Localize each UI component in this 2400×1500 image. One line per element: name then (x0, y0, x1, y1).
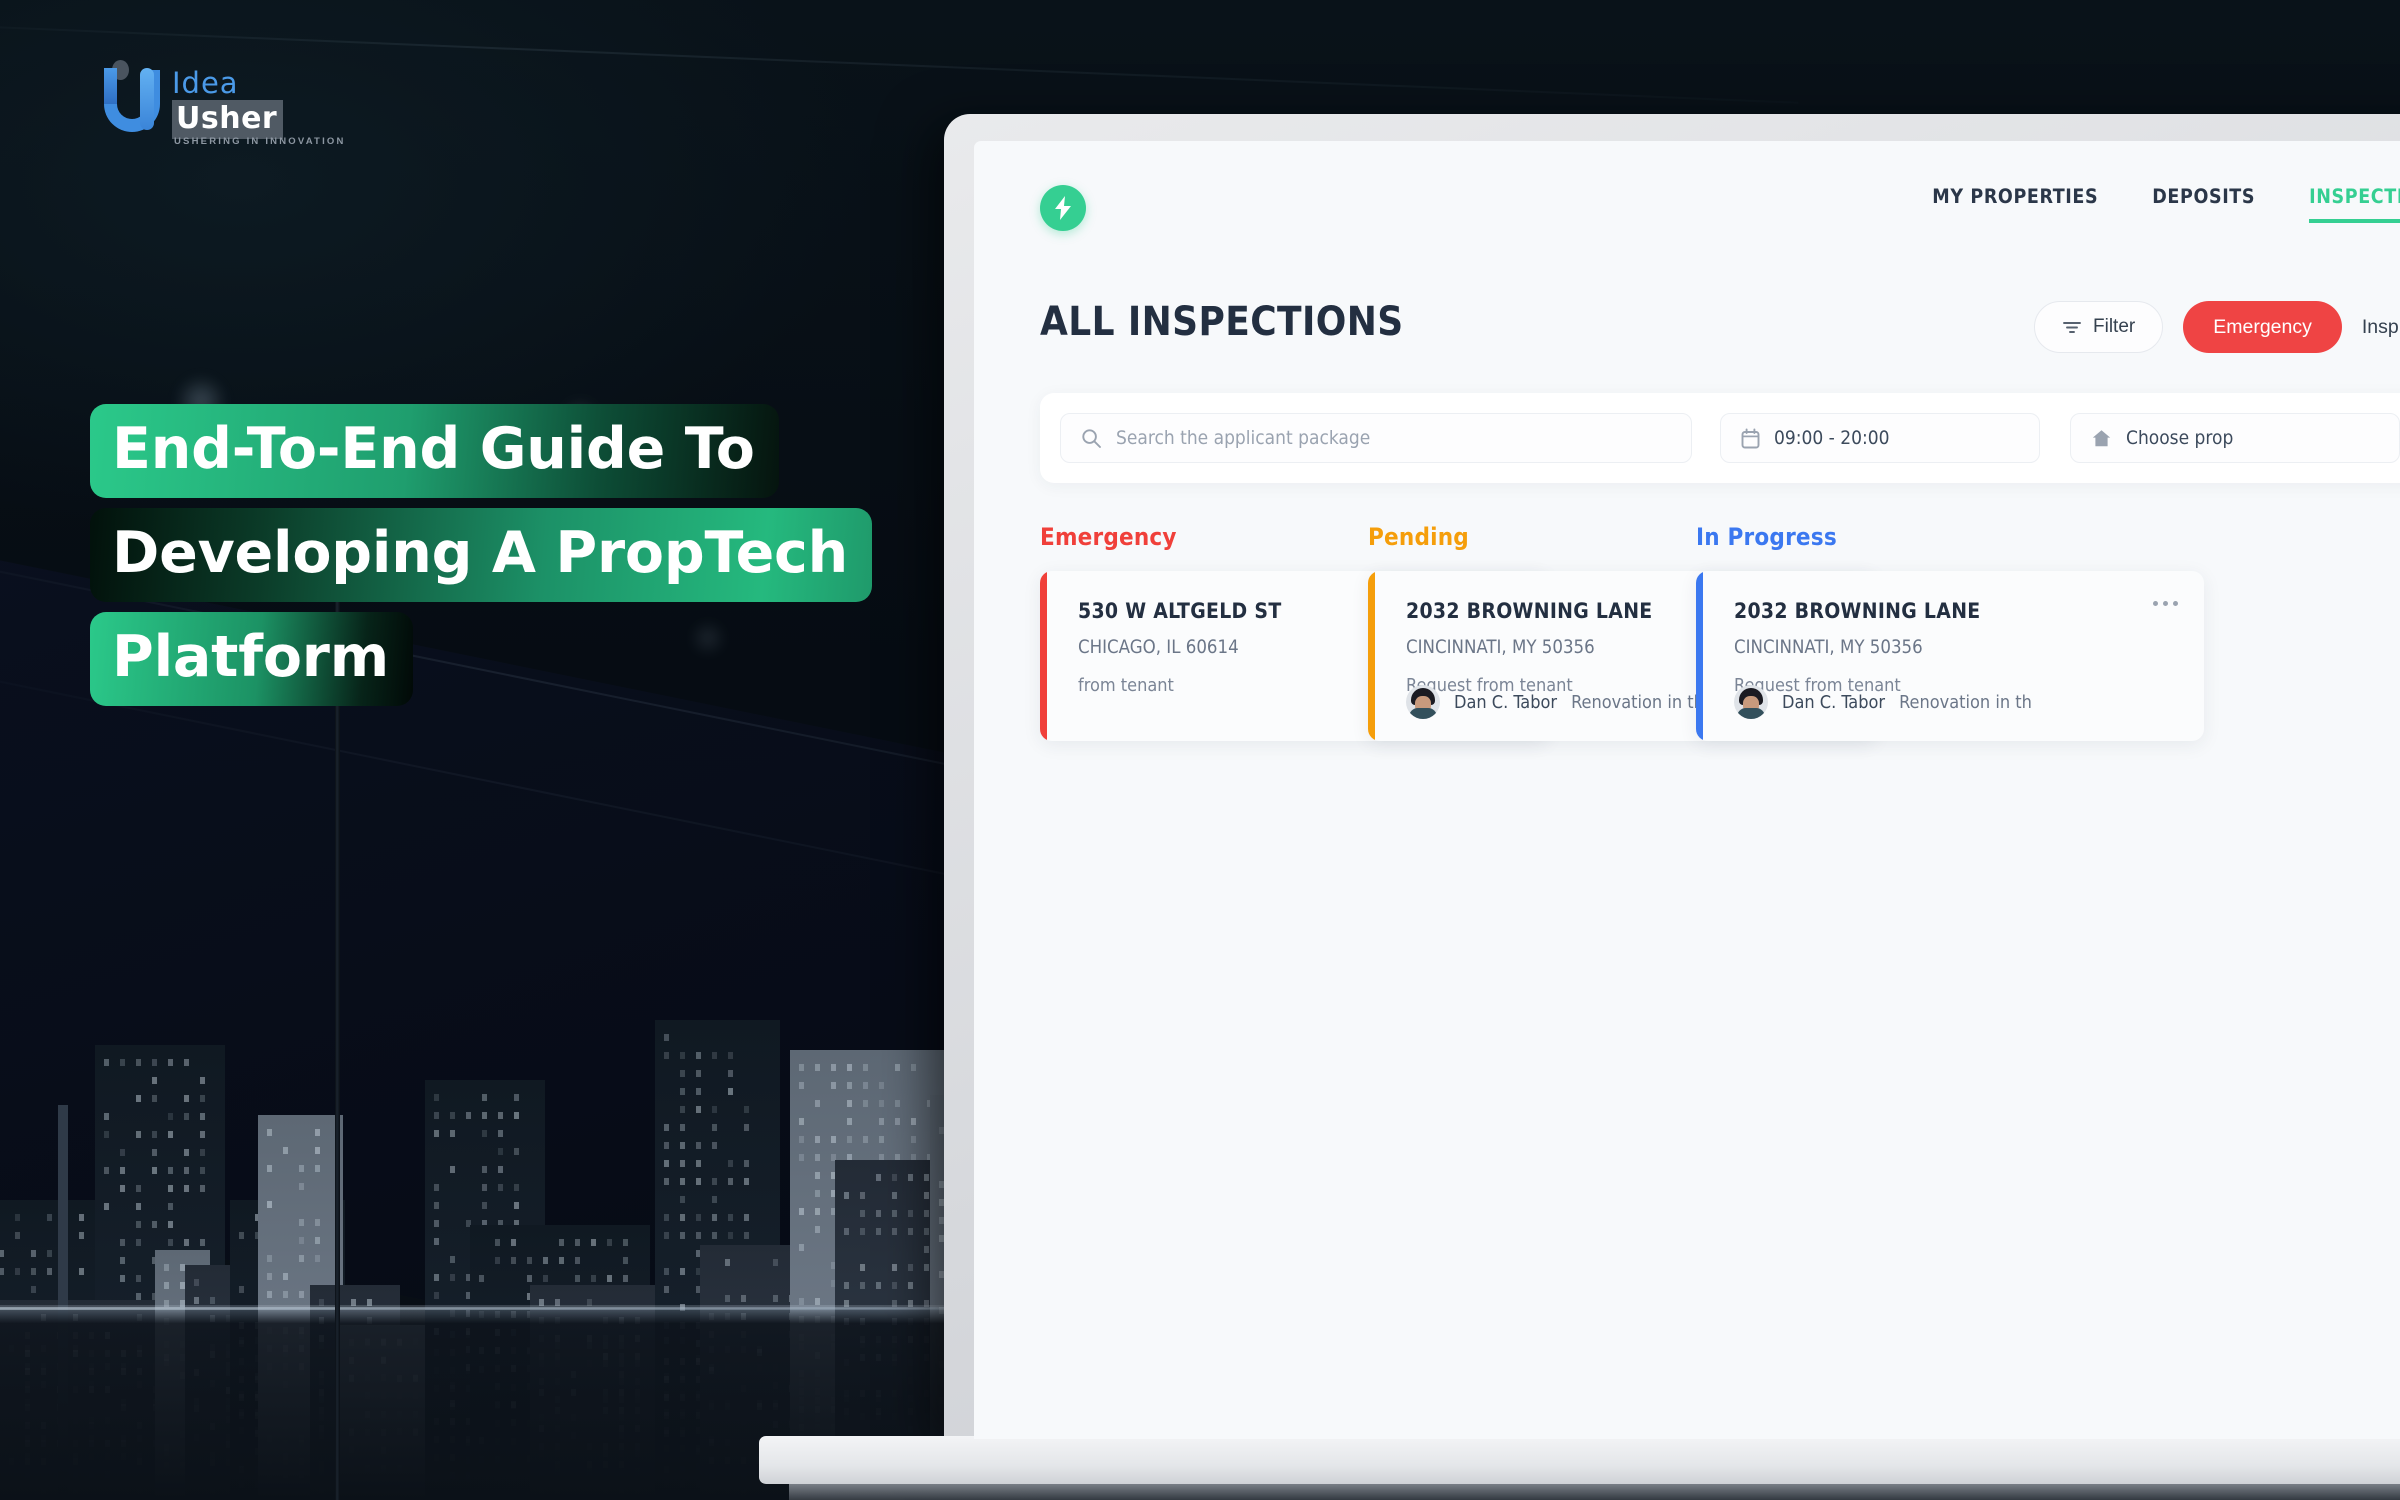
card-city-state: CINCINNATI, MY 50356 (1734, 637, 1923, 658)
building-window (267, 1129, 272, 1136)
building-window (136, 1131, 141, 1138)
card-address-title: 530 W ALTGELD ST (1078, 599, 1282, 623)
building-window (514, 1184, 519, 1191)
card-task-label: Renovation in th (1899, 692, 2032, 713)
building-window (591, 1239, 596, 1246)
building-window (152, 1149, 157, 1156)
building-window (482, 1166, 487, 1173)
building-window (847, 1064, 852, 1071)
building-window (168, 1113, 173, 1120)
building-window (879, 1082, 884, 1089)
building-window (696, 1178, 701, 1185)
building-window (664, 1124, 669, 1131)
building-window (434, 1220, 439, 1227)
emergency-filter-pill[interactable]: Emergency (2183, 301, 2342, 353)
building-window (200, 1131, 205, 1138)
search-placeholder: Search the applicant package (1116, 427, 1370, 449)
building-window (152, 1077, 157, 1084)
building-window (876, 1174, 881, 1181)
building-window (194, 1279, 199, 1286)
building-window (712, 1106, 717, 1113)
idea-usher-logo: Idea Usher USHERING IN INNOVATION (104, 62, 404, 142)
building-window (450, 1274, 455, 1281)
building-window (815, 1226, 820, 1233)
building-window (498, 1166, 503, 1173)
building-window (744, 1160, 749, 1167)
building-window (168, 1185, 173, 1192)
building-window (210, 1297, 215, 1304)
building-window (892, 1210, 897, 1217)
building-window (860, 1192, 865, 1199)
headline-line-1: End-To-End Guide To (90, 404, 779, 498)
building-window (200, 1113, 205, 1120)
building-window (498, 1148, 503, 1155)
building-window (607, 1239, 612, 1246)
building-window (860, 1282, 865, 1289)
building-window (815, 1100, 820, 1107)
building-window (924, 1246, 929, 1253)
search-input[interactable]: Search the applicant package (1060, 413, 1692, 463)
building-window (514, 1094, 519, 1101)
building-window (168, 1221, 173, 1228)
building-window (863, 1064, 868, 1071)
building-window (847, 1118, 852, 1125)
building-window (696, 1160, 701, 1167)
building-window (15, 1268, 20, 1275)
building-window (591, 1275, 596, 1282)
card-address-title: 2032 BROWNING LANE (1734, 599, 1981, 623)
building-window (799, 1298, 804, 1305)
building-window (450, 1166, 455, 1173)
building-window (892, 1192, 897, 1199)
building-window (892, 1228, 897, 1235)
building-window (844, 1282, 849, 1289)
building-window (680, 1268, 685, 1275)
building-window (860, 1210, 865, 1217)
building-window (773, 1259, 778, 1266)
building-window (607, 1275, 612, 1282)
building-window (876, 1228, 881, 1235)
building-window (744, 1214, 749, 1221)
building-window (815, 1298, 820, 1305)
building-window (879, 1136, 884, 1143)
building-window (15, 1214, 20, 1221)
building-window (527, 1257, 532, 1264)
card-request-source: from tenant (1078, 675, 1174, 696)
brand-logo-button[interactable] (1040, 185, 1086, 231)
building-window (315, 1147, 320, 1154)
building-window (911, 1136, 916, 1143)
building-window (712, 1052, 717, 1059)
building-window (664, 1232, 669, 1239)
building-window (696, 1232, 701, 1239)
building-window (434, 1274, 439, 1281)
filter-panel: Search the applicant package 09:00 - 20:… (1040, 393, 2400, 483)
search-icon (1081, 428, 1102, 449)
building-window (895, 1100, 900, 1107)
building-window (799, 1136, 804, 1143)
card-assignee-name: Dan C. Tabor (1454, 692, 1557, 713)
nav-item-inspections[interactable]: INSPECTIONS (2309, 185, 2400, 223)
building-window (152, 1167, 157, 1174)
building-window (908, 1264, 913, 1271)
building-window (136, 1293, 141, 1300)
building-window (495, 1239, 500, 1246)
building-window (136, 1059, 141, 1066)
building-window (120, 1167, 125, 1174)
building-window (267, 1201, 272, 1208)
app-header: MY PROPERTIES DEPOSITS INSPECTIONS (974, 141, 2400, 261)
building-window (184, 1095, 189, 1102)
building-window (696, 1070, 701, 1077)
building-window (696, 1106, 701, 1113)
building-window (450, 1130, 455, 1137)
building-window (623, 1275, 628, 1282)
time-range-value: 09:00 - 20:00 (1774, 427, 1890, 449)
building-window (299, 1255, 304, 1262)
building-window (664, 1214, 669, 1221)
building-window (200, 1185, 205, 1192)
building-window (120, 1059, 125, 1066)
building-window (466, 1112, 471, 1119)
building-window (511, 1239, 516, 1246)
building-window (744, 1106, 749, 1113)
building-window (815, 1154, 820, 1161)
building-window (168, 1167, 173, 1174)
building-window (908, 1228, 913, 1235)
building-window (31, 1286, 36, 1293)
building-window (799, 1208, 804, 1215)
building-window (434, 1202, 439, 1209)
building-window (773, 1295, 778, 1302)
building-window (728, 1232, 733, 1239)
building-window (498, 1112, 503, 1119)
building-window (680, 1106, 685, 1113)
building-window (47, 1214, 52, 1221)
logo-secondary-box: Usher (172, 100, 283, 139)
building-window (664, 1052, 669, 1059)
building-window (184, 1149, 189, 1156)
building-window (239, 1286, 244, 1293)
building-window (136, 1095, 141, 1102)
card-status-accent (1696, 571, 1703, 741)
building-window (120, 1257, 125, 1264)
building-window (924, 1264, 929, 1271)
page-title-row: ALL INSPECTIONS Filter Emergency Insp (974, 291, 2400, 369)
building-window (728, 1052, 733, 1059)
building-window (892, 1264, 897, 1271)
building-window (200, 1095, 205, 1102)
building-window (15, 1232, 20, 1239)
building-window (104, 1059, 109, 1066)
card-status-accent (1368, 571, 1375, 741)
building-window (152, 1131, 157, 1138)
building-window (680, 1178, 685, 1185)
building-window (712, 1214, 717, 1221)
building-window (299, 1219, 304, 1226)
inspection-card[interactable]: 2032 BROWNING LANE CINCINNATI, MY 50356 … (1696, 571, 2204, 741)
building-window (680, 1052, 685, 1059)
building-window (696, 1088, 701, 1095)
building-window (0, 1268, 4, 1275)
building-window (911, 1064, 916, 1071)
building-window (712, 1232, 717, 1239)
building-window (725, 1295, 730, 1302)
building-window (924, 1174, 929, 1181)
building-window (482, 1202, 487, 1209)
avatar (1406, 685, 1440, 719)
building-window (79, 1232, 84, 1239)
building-window (559, 1257, 564, 1264)
building-window (434, 1094, 439, 1101)
filter-button[interactable]: Filter (2034, 301, 2163, 353)
building-window (315, 1219, 320, 1226)
card-city-state: CHICAGO, IL 60614 (1078, 637, 1239, 658)
building-window (575, 1257, 580, 1264)
building-window (315, 1237, 320, 1244)
building-window (799, 1244, 804, 1251)
building-window (696, 1052, 701, 1059)
building-window (863, 1082, 868, 1089)
building-window (514, 1148, 519, 1155)
building-window (847, 1136, 852, 1143)
building-window (575, 1239, 580, 1246)
building-window (200, 1077, 205, 1084)
building-window (511, 1257, 516, 1264)
laptop-base (759, 1436, 2400, 1484)
building-window (136, 1275, 141, 1282)
building-window (892, 1282, 897, 1289)
building-window (815, 1064, 820, 1071)
building-window (895, 1064, 900, 1071)
building-window (680, 1232, 685, 1239)
building-window (283, 1147, 288, 1154)
building-window (104, 1167, 109, 1174)
column-header-emergency: Emergency (1040, 523, 1177, 551)
window-sill (0, 1305, 1040, 1309)
filter-icon (2062, 319, 2082, 335)
headline-line-3: Platform (90, 612, 413, 706)
building-window (79, 1268, 84, 1275)
card-assignee-name: Dan C. Tabor (1782, 692, 1885, 713)
building-window (164, 1264, 169, 1271)
building-window (315, 1165, 320, 1172)
building-window (575, 1275, 580, 1282)
building-window (299, 1183, 304, 1190)
building-window (482, 1094, 487, 1101)
building-window (168, 1059, 173, 1066)
building-window (299, 1291, 304, 1298)
building-window (136, 1221, 141, 1228)
building-window (895, 1118, 900, 1125)
building-window (168, 1131, 173, 1138)
building-window (495, 1257, 500, 1264)
nav-item-my-properties[interactable]: MY PROPERTIES (1932, 185, 2098, 219)
building-window (664, 1142, 669, 1149)
building-window (267, 1255, 272, 1262)
building-window (104, 1203, 109, 1210)
building-window (879, 1100, 884, 1107)
logo-tagline: USHERING IN INNOVATION (174, 136, 346, 147)
building-window (911, 1118, 916, 1125)
building-window (728, 1160, 733, 1167)
building-window (815, 1172, 820, 1179)
building-window (184, 1059, 189, 1066)
column-header-pending: Pending (1368, 523, 1469, 551)
building-window (664, 1286, 669, 1293)
building-window (559, 1239, 564, 1246)
column-header-in-progress: In Progress (1696, 523, 1837, 551)
building-window (543, 1257, 548, 1264)
building-window (815, 1208, 820, 1215)
building-window (168, 1203, 173, 1210)
building-window (680, 1070, 685, 1077)
building-window (104, 1113, 109, 1120)
building-window (267, 1165, 272, 1172)
building-window (184, 1239, 189, 1246)
building-window (168, 1239, 173, 1246)
building-window (799, 1064, 804, 1071)
building-window (908, 1210, 913, 1217)
building-window (136, 1185, 141, 1192)
building-window (434, 1130, 439, 1137)
building-window (498, 1130, 503, 1137)
building-window (47, 1250, 52, 1257)
building-window (664, 1268, 669, 1275)
building-window (79, 1214, 84, 1221)
building-window (315, 1129, 320, 1136)
building-window (200, 1167, 205, 1174)
page-title: ALL INSPECTIONS (1040, 299, 1404, 345)
building-window (239, 1232, 244, 1239)
time-range-input[interactable]: 09:00 - 20:00 (1720, 413, 2040, 463)
property-select-value: Choose prop (2126, 427, 2233, 449)
logo-u-bar-icon (140, 68, 154, 130)
building-window (120, 1239, 125, 1246)
building-window (482, 1112, 487, 1119)
main-navigation: MY PROPERTIES DEPOSITS INSPECTIONS (1932, 185, 2400, 223)
building-window (120, 1185, 125, 1192)
building-window (680, 1142, 685, 1149)
building-window (696, 1142, 701, 1149)
building-window (664, 1034, 669, 1041)
building-window (680, 1124, 685, 1131)
building-window (623, 1257, 628, 1264)
building-window (267, 1291, 272, 1298)
building-window (725, 1259, 730, 1266)
building-window (799, 1082, 804, 1089)
building-window (267, 1273, 272, 1280)
building-window (434, 1184, 439, 1191)
building-window (104, 1131, 109, 1138)
building-window (879, 1118, 884, 1125)
building-window (696, 1214, 701, 1221)
building-window (664, 1178, 669, 1185)
building-window (152, 1059, 157, 1066)
building-window (924, 1228, 929, 1235)
building-window (299, 1165, 304, 1172)
logo-primary-text: Idea (172, 66, 239, 100)
building-window (680, 1088, 685, 1095)
inspection-filter-pill[interactable]: Insp (2362, 301, 2399, 353)
building-window (200, 1149, 205, 1156)
building-window (908, 1282, 913, 1289)
building-window (892, 1174, 897, 1181)
building-window (815, 1190, 820, 1197)
building-window (799, 1154, 804, 1161)
building-window (847, 1100, 852, 1107)
building-window (799, 1118, 804, 1125)
building-window (200, 1239, 205, 1246)
building-window (831, 1082, 836, 1089)
building-window (744, 1178, 749, 1185)
building-window (315, 1255, 320, 1262)
building-window (498, 1184, 503, 1191)
nav-item-deposits[interactable]: DEPOSITS (2152, 185, 2255, 219)
building-window (863, 1100, 868, 1107)
building-window (152, 1095, 157, 1102)
building-window (860, 1264, 865, 1271)
card-footer: Dan C. Tabor Renovation in th (1734, 685, 2032, 719)
building-window (831, 1136, 836, 1143)
building-window (434, 1238, 439, 1245)
building-window (741, 1295, 746, 1302)
building-window (847, 1082, 852, 1089)
building-window (712, 1142, 717, 1149)
building-window (283, 1273, 288, 1280)
building-window (434, 1292, 439, 1299)
building-window (136, 1239, 141, 1246)
building-window (831, 1064, 836, 1071)
app-screen: MY PROPERTIES DEPOSITS INSPECTIONS ALL I… (974, 141, 2400, 1439)
logo-secondary-text: Usher (176, 101, 277, 136)
page-actions: Filter Emergency Insp (2034, 301, 2399, 353)
building-window (728, 1088, 733, 1095)
building-window (434, 1112, 439, 1119)
building-window (514, 1202, 519, 1209)
building-window (299, 1237, 304, 1244)
building-window (844, 1228, 849, 1235)
building-window (844, 1192, 849, 1199)
building-window (623, 1239, 628, 1246)
building-window (876, 1210, 881, 1217)
building-window (728, 1070, 733, 1077)
building-window (120, 1275, 125, 1282)
building-window (482, 1130, 487, 1137)
building-window (680, 1160, 685, 1167)
building-window (0, 1250, 4, 1257)
headline-line-2: Developing A PropTech (90, 508, 872, 602)
building-window (450, 1112, 455, 1119)
building-window (924, 1192, 929, 1199)
building-window (728, 1214, 733, 1221)
building-window (450, 1256, 455, 1263)
building-window (164, 1282, 169, 1289)
building-window (728, 1178, 733, 1185)
more-options-icon[interactable] (2153, 601, 2178, 606)
building-window (815, 1136, 820, 1143)
building-window (31, 1268, 36, 1275)
property-select[interactable]: Choose prop (2070, 413, 2400, 463)
lightning-bolt-icon (1053, 196, 1073, 220)
building-window (680, 1214, 685, 1221)
building-window (184, 1113, 189, 1120)
building-window (31, 1250, 36, 1257)
building-window (712, 1124, 717, 1131)
building-window (152, 1221, 157, 1228)
card-address-title: 2032 BROWNING LANE (1406, 599, 1653, 623)
building-window (283, 1291, 288, 1298)
